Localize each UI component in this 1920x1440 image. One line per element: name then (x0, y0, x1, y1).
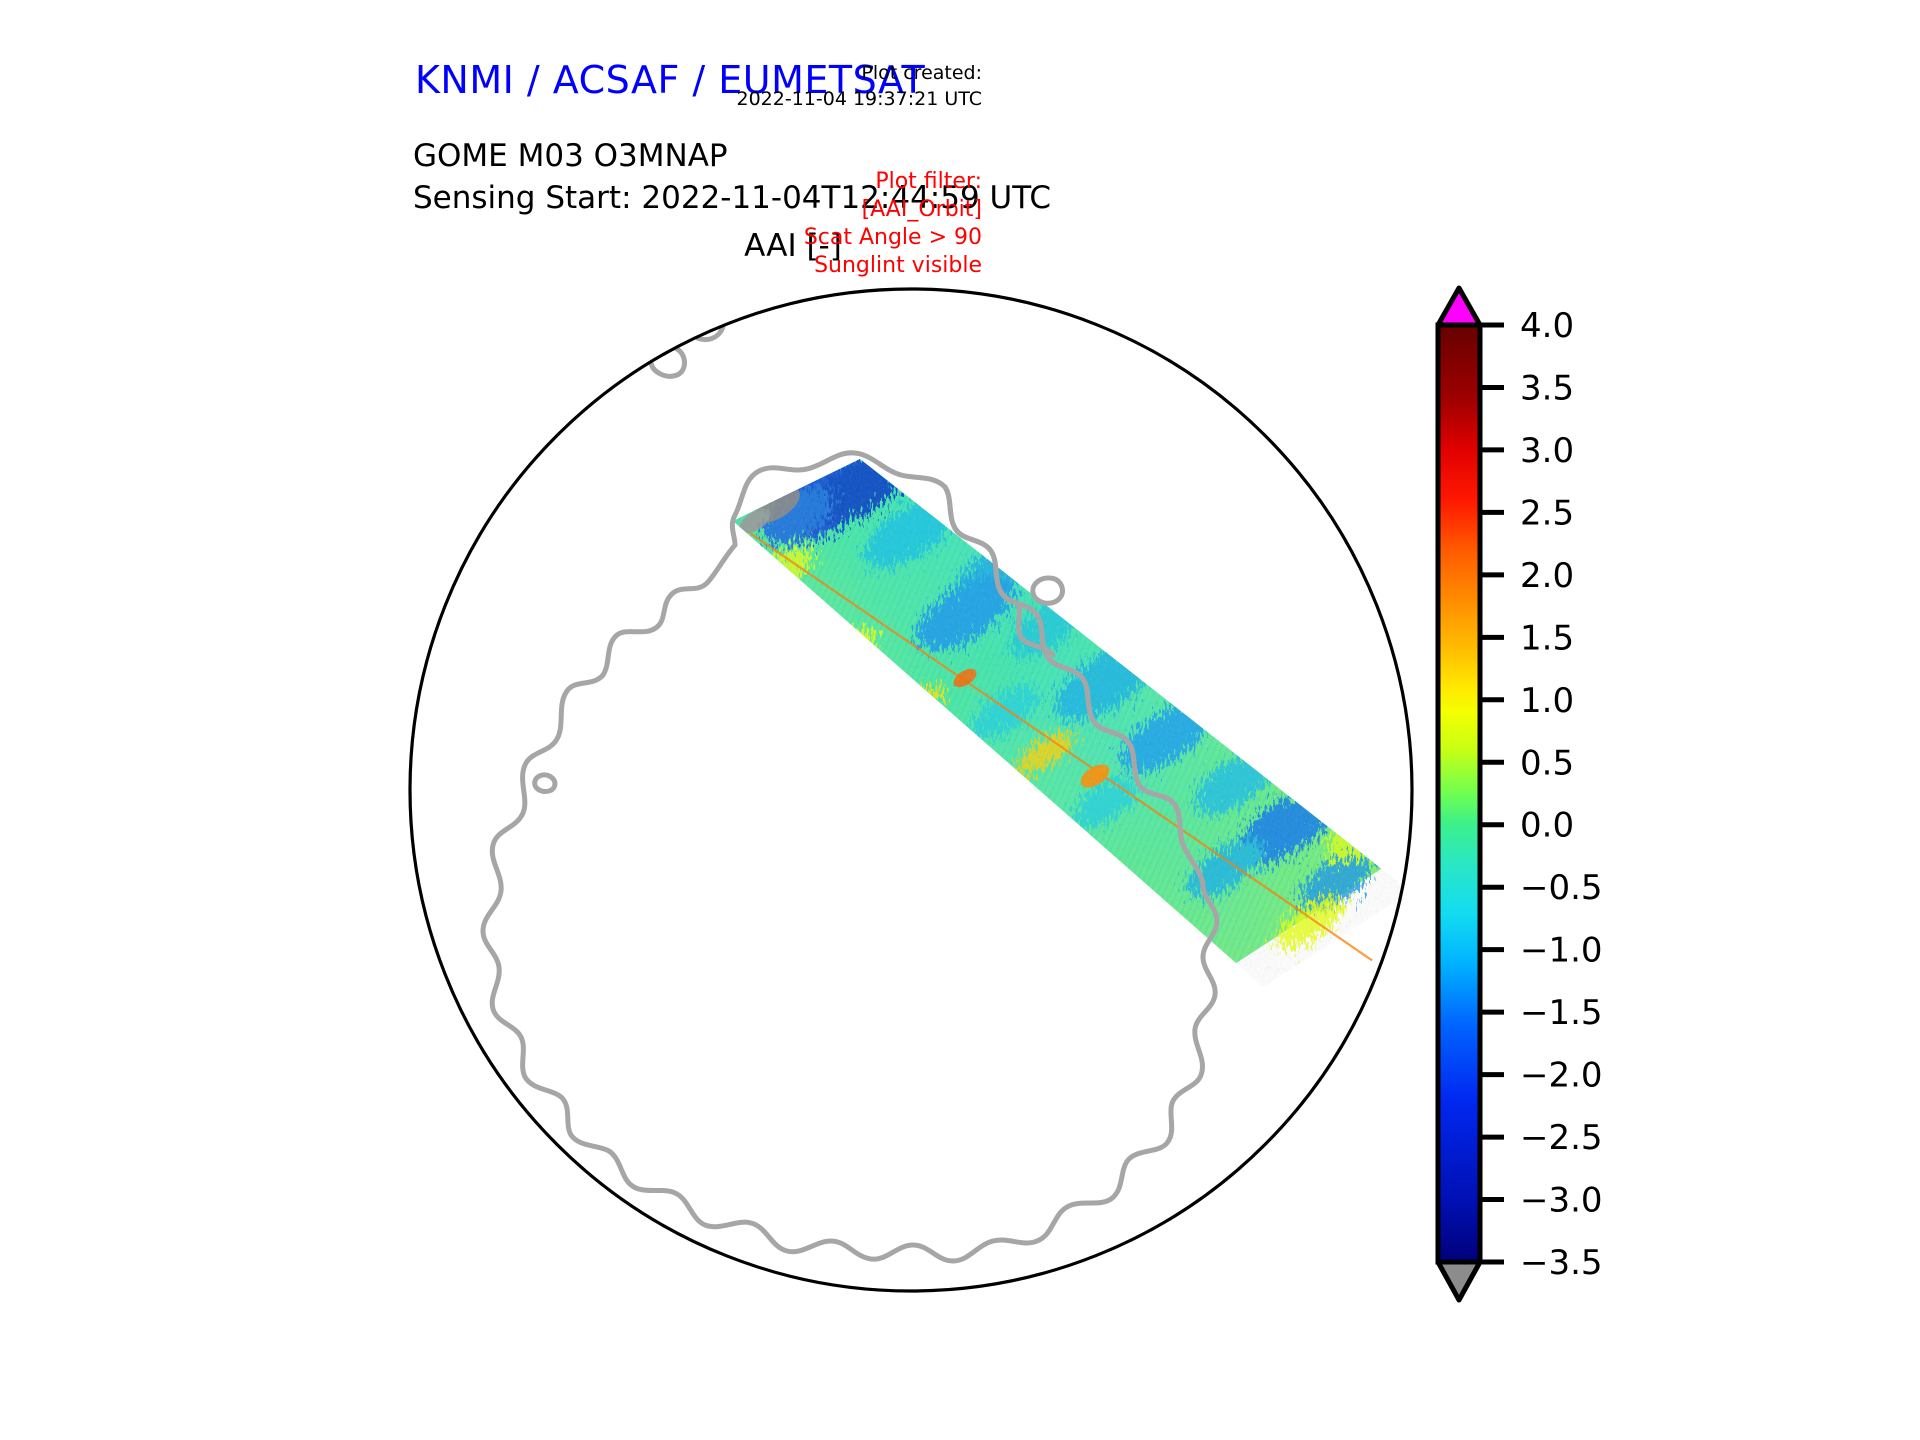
colorbar-tick-label: 2.5 (1520, 493, 1574, 533)
colorbar-tick-label: 1.5 (1520, 618, 1574, 658)
plot-created-info: Plot created: 2022-11-04 19:37:21 UTC (662, 60, 982, 112)
colorbar-tick-label: 3.5 (1520, 368, 1574, 408)
colorbar-ticks: 4.03.53.02.52.01.51.00.50.0−0.5−1.0−1.5−… (1480, 306, 1603, 1283)
colorbar-tick-label: 1.0 (1520, 681, 1574, 721)
plot-filter-scat-angle: Scat Angle > 90 (652, 224, 982, 252)
map-panel (405, 283, 1420, 1303)
plot-created-timestamp: 2022-11-04 19:37:21 UTC (662, 86, 982, 112)
colorbar-tick-label: 0.0 (1520, 806, 1574, 846)
colorbar-tick-label: −2.0 (1520, 1056, 1603, 1096)
colorbar-tick-label: −2.5 (1520, 1118, 1603, 1158)
colorbar-under-arrow (1438, 1262, 1480, 1300)
colorbar-tick-label: −0.5 (1520, 868, 1603, 908)
colorbar-tick-label: 4.0 (1520, 306, 1574, 346)
colorbar-tick-label: 3.0 (1520, 431, 1574, 471)
plot-filter-sunglint: Sunglint visible (652, 252, 982, 280)
colorbar-bar[interactable] (1438, 325, 1480, 1262)
colorbar-tick-label: −3.0 (1520, 1181, 1603, 1221)
colorbar-over-arrow (1438, 288, 1480, 325)
plot-created-label: Plot created: (662, 60, 982, 86)
plot-filter-info: Plot filter: [AAI_Orbit] Scat Angle > 90… (652, 168, 982, 280)
colorbar-tick-label: 2.0 (1520, 556, 1574, 596)
colorbar-tick-label: −1.0 (1520, 931, 1603, 971)
colorbar-tick-label: −3.5 (1520, 1243, 1603, 1283)
colorbar[interactable]: 4.03.53.02.52.01.51.00.50.0−0.5−1.0−1.5−… (1428, 280, 1848, 1310)
colorbar-tick-label: −1.5 (1520, 993, 1603, 1033)
colorbar-tick-label: 0.5 (1520, 743, 1574, 783)
plot-filter-label: Plot filter: (652, 168, 982, 196)
plot-filter-name: [AAI_Orbit] (652, 196, 982, 224)
